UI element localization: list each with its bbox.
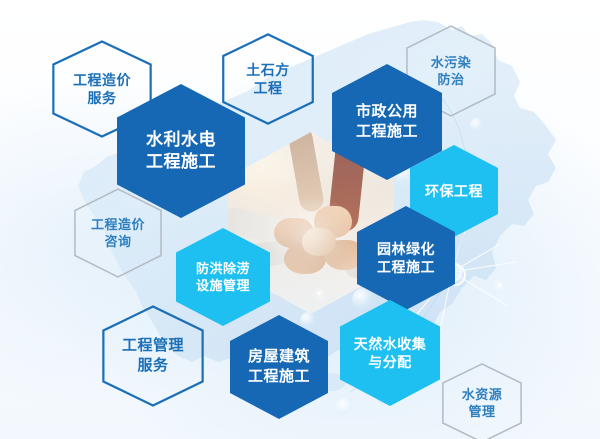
hex-label-tianranshui-shouji-yu-fenpei: 天然水收集 与分配 [354, 335, 427, 372]
hex-label-tushifang-gongcheng: 土石方 工程 [246, 61, 290, 98]
hex-label-shuiziyuan-guanli: 水资源 管理 [462, 386, 503, 420]
hex-node-yuanlin-lvhua-gongcheng-shigong[interactable]: 园林绿化 工程施工 [357, 206, 455, 310]
hex-node-shuiziyuan-guanli[interactable]: 水资源 管理 [442, 363, 522, 439]
hex-label-huanbao-gongcheng: 环保工程 [425, 182, 483, 200]
hex-node-tianranshui-shouji-yu-fenpei[interactable]: 天然水收集 与分配 [340, 300, 440, 406]
hex-node-fangwu-jianzhu-gongcheng-shigong[interactable]: 房屋建筑 工程施工 [230, 315, 328, 419]
hex-node-gongcheng-zaojia-zixun[interactable]: 工程造价 咨询 [74, 188, 162, 278]
hex-node-gongcheng-guanli-fuwu[interactable]: 工程管理 服务 [102, 305, 204, 407]
hex-label-gongcheng-guanli-fuwu: 工程管理 服务 [122, 336, 184, 376]
infographic-canvas: 工程造价 服务土石方 工程水污染 防治水利水电 工程施工市政公用 工程施工环保工… [0, 0, 600, 439]
hex-label-fangwu-jianzhu-gongcheng-shigong: 房屋建筑 工程施工 [248, 347, 310, 387]
hex-label-gongcheng-zaojia-fuwu: 工程造价 服务 [73, 71, 131, 108]
hex-label-shuiwuran-fangzhi: 水污染 防治 [431, 54, 472, 88]
hex-label-yuanlin-lvhua-gongcheng-shigong: 园林绿化 工程施工 [377, 240, 435, 277]
hex-label-gongcheng-zaojia-zixun: 工程造价 咨询 [91, 216, 145, 250]
hex-label-shuili-shuidian-gongcheng-shigong: 水利水电 工程施工 [146, 129, 216, 174]
hex-label-shizheng-gongyong-gongcheng-shigong: 市政公用 工程施工 [356, 102, 418, 142]
hex-label-fanghong-chulao-sheshi-guanli: 防洪除涝 设施管理 [196, 260, 250, 294]
